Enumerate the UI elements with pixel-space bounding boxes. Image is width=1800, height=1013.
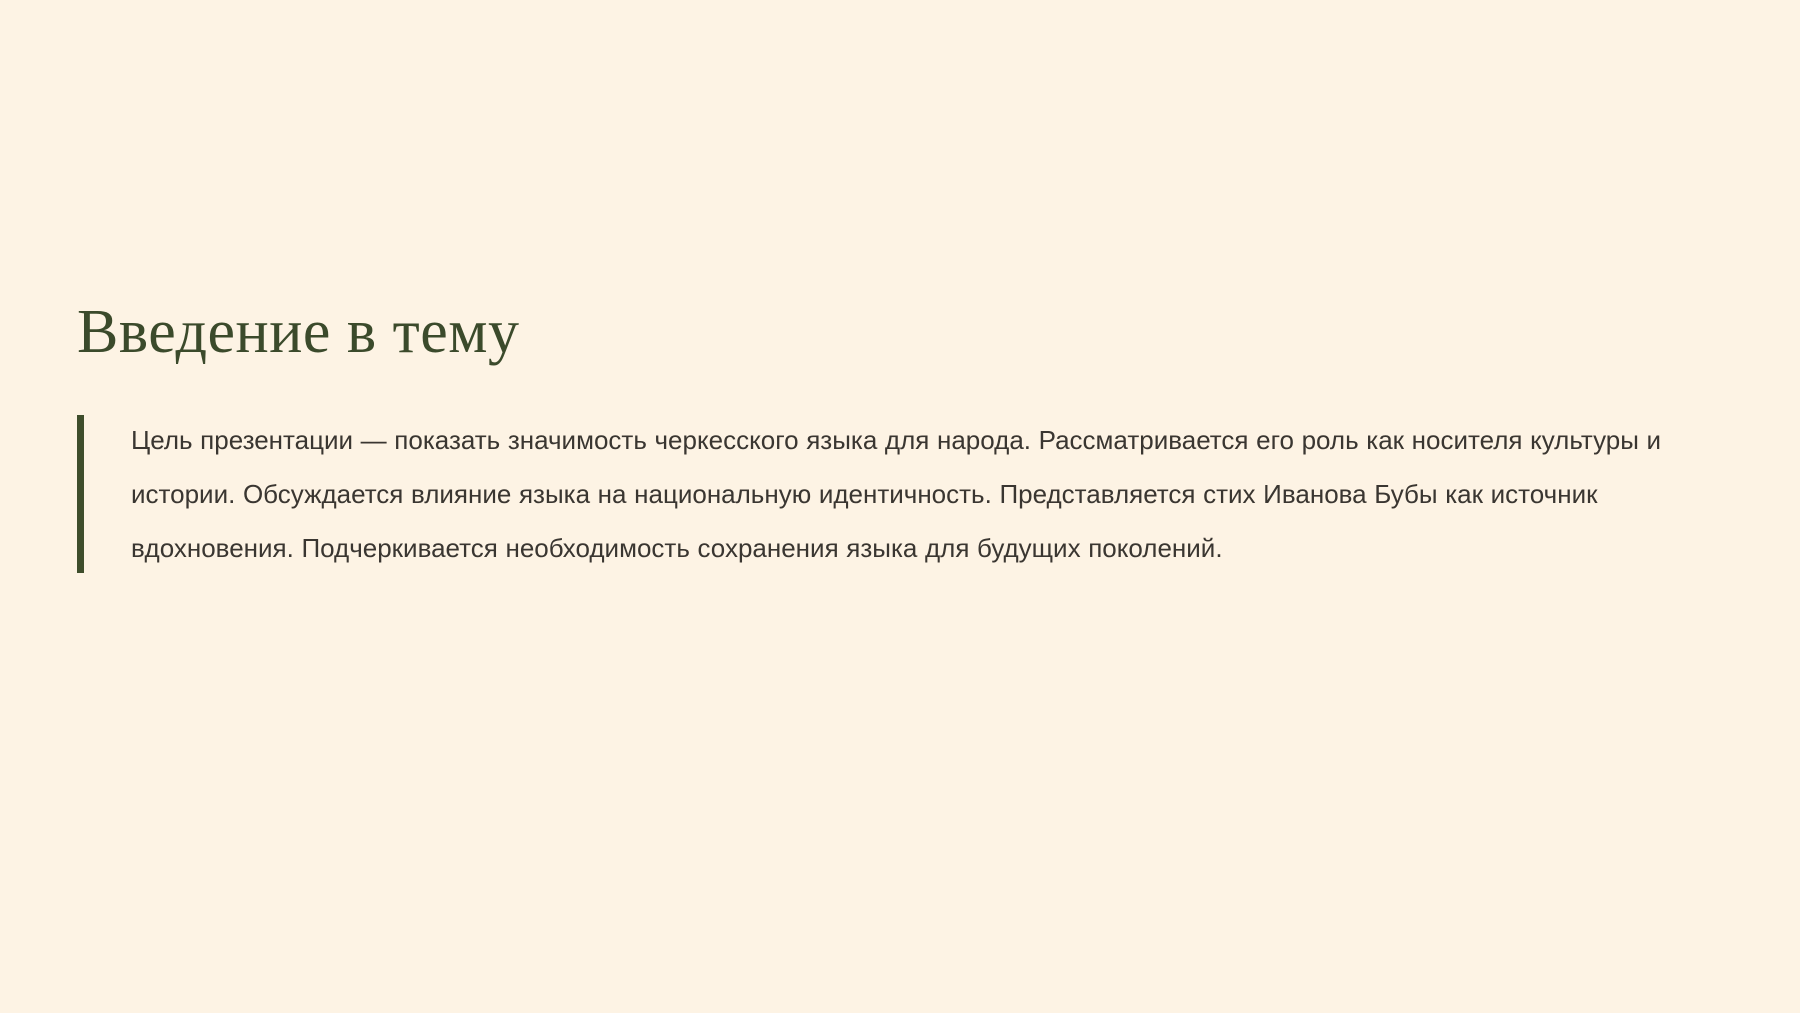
body-block: Цель презентации — показать значимость ч… — [77, 413, 1717, 575]
body-paragraph: Цель презентации — показать значимость ч… — [131, 413, 1711, 575]
slide-content: Введение в тему Цель презентации — показ… — [77, 300, 1717, 575]
presentation-slide: Введение в тему Цель презентации — показ… — [0, 0, 1800, 1013]
page-title: Введение в тему — [77, 300, 1717, 365]
accent-bar — [77, 415, 84, 573]
